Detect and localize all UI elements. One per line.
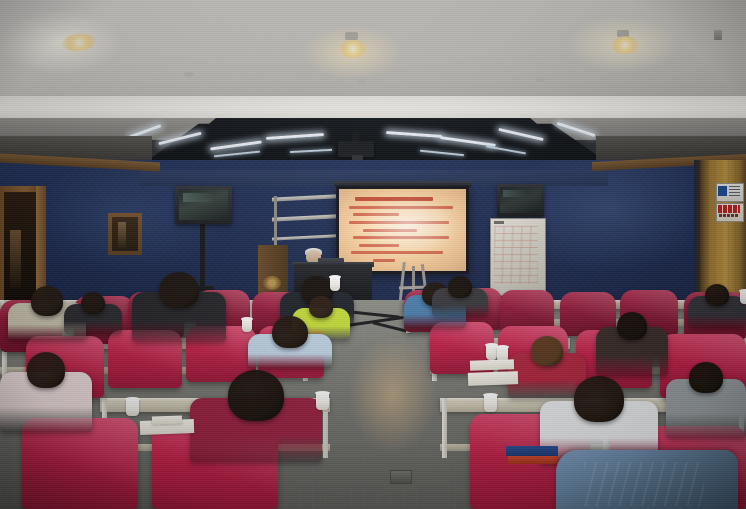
sign-text-lines [729,186,740,196]
handout-paper [468,371,518,386]
hair [81,292,105,314]
sign-headline [718,205,740,213]
hair [159,272,198,308]
spotlight-center-icon [340,40,366,58]
desk-leg [442,398,447,458]
hair [689,362,723,393]
blue-binder [506,446,558,456]
hair [228,370,283,421]
whiteboard-clip-icon [494,221,504,224]
hair [272,316,307,348]
screen-bloom [339,189,466,271]
monitor-post [200,224,205,288]
hair [574,376,624,422]
sprinkler-head-icon [536,77,545,82]
handout-paper [152,415,182,424]
floor-drain-grate [390,470,412,484]
jacket-folds [584,462,704,506]
podium-emblem-icon [263,276,281,290]
cup-rim [329,275,341,279]
red-binder [508,456,558,464]
monitor-glare [183,193,213,202]
hair [27,352,66,388]
cup-rim [483,393,498,397]
handout-paper [470,359,514,371]
cup-rim [241,317,253,321]
hair [31,286,64,316]
hair [531,336,564,366]
conference-room-photo [0,0,746,509]
monitor-glare [503,190,527,197]
cup-rim [496,345,509,349]
hair [309,296,333,318]
cup-rim [739,289,746,293]
spotlight-right-icon [612,36,638,54]
spotlight-center-fixture [345,32,358,40]
sign-logo-icon [718,186,727,196]
cup-rim [315,391,330,395]
sprinkler-head-icon [714,30,722,40]
wall-panel-highlight [118,222,126,248]
cup-rim [125,397,140,401]
hair [705,284,729,306]
hair [617,312,647,340]
sprinkler-head-icon [358,79,367,84]
sign-subtext [719,214,739,217]
hair [448,276,472,298]
sprinkler-head-icon [184,72,194,77]
whiteboard-writing [494,226,538,284]
doorway-highlight [10,230,21,288]
